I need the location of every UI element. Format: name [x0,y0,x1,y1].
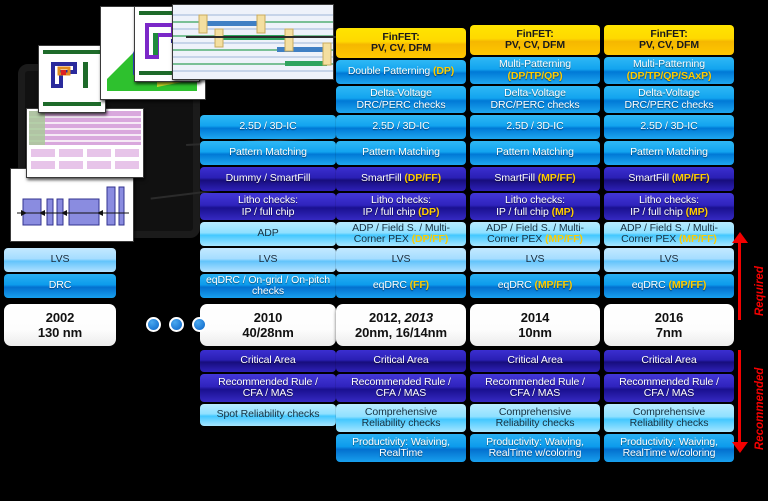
capability-bar[interactable]: Pattern Matching [604,141,734,165]
capability-bar[interactable]: Productivity: Waiving,RealTime [336,434,466,462]
capability-bar[interactable]: SmartFill (DP/FF) [336,167,466,191]
capability-bar[interactable]: eqDRC (MP/FF) [470,274,600,298]
capability-bar[interactable]: SmartFill (MP/FF) [604,167,734,191]
capability-bar[interactable]: Litho checks:IP / full chip (MP) [604,193,734,220]
highlight-token: (MP) [552,206,574,218]
capability-bar[interactable]: LVS [200,248,336,272]
highlight-token: (DP/FF) [404,172,441,184]
capability-bar[interactable]: Multi-Patterning(DP/TP/QP) [470,57,600,84]
column-header-n2014: FinFET:PV, CV, DFM [470,25,600,55]
separator-dot [169,317,184,332]
capability-bar[interactable]: Pattern Matching [336,141,466,165]
capability-bar[interactable]: Critical Area [470,350,600,372]
capability-bar[interactable]: SmartFill (MP/FF) [470,167,600,191]
capability-bar[interactable]: 2.5D / 3D-IC [470,115,600,139]
capability-bar[interactable]: Productivity: Waiving,RealTime w/colorin… [604,434,734,462]
capability-bar[interactable]: ADP / Field S. / Multi-Corner PEX (MP/FF… [470,222,600,246]
capability-bar[interactable]: ADP / Field S. / Multi-Corner PEX (DP/FF… [336,222,466,246]
recommended-arrow: Recommended [724,350,768,454]
highlight-token: (MP/FF) [672,172,710,184]
screenshot-timing-waveform [172,4,334,80]
capability-bar[interactable]: Critical Area [604,350,734,372]
capability-bar[interactable]: Delta-VoltageDRC/PERC checks [604,86,734,113]
highlight-token: (DP/FF) [412,233,449,245]
required-arrow-label: Required [754,266,766,316]
capability-bar[interactable]: Multi-Patterning(DP/TP/QP/SAxP) [604,57,734,84]
year-node-box-n2012[interactable]: 2012, 201320nm, 16/14nm [336,304,466,346]
capability-bar[interactable]: Recommended Rule /CFA / MAS [200,374,336,402]
highlight-token: (MP/FF) [679,233,717,245]
capability-bar[interactable]: eqDRC / On-grid / On-pitch checks [200,274,336,298]
column-header-n2016: FinFET:PV, CV, DFM [604,25,734,55]
separator-dot [146,317,161,332]
highlight-token: (MP/FF) [534,279,572,291]
capability-bar[interactable]: Delta-VoltageDRC/PERC checks [336,86,466,113]
capability-bar[interactable]: Recommended Rule /CFA / MAS [470,374,600,402]
capability-bar[interactable]: eqDRC (FF) [336,274,466,298]
capability-bar[interactable]: Double Patterning (DP) [336,60,466,84]
column-header-n2012: FinFET:PV, CV, DFM [336,28,466,58]
highlight-token: (MP/FF) [668,279,706,291]
capability-bar[interactable]: LVS [4,248,116,272]
capability-bar[interactable]: ComprehensiveReliability checks [604,404,734,432]
highlight-token: (MP) [686,206,708,218]
year-node-box-n2014[interactable]: 201410nm [470,304,600,346]
capability-bar[interactable]: Delta-VoltageDRC/PERC checks [470,86,600,113]
capability-bar[interactable]: Pattern Matching [470,141,600,165]
capability-bar[interactable]: LVS [470,248,600,272]
screenshot-layout-view [38,45,106,113]
required-arrow: Required [724,232,768,320]
capability-bar[interactable]: LVS [336,248,466,272]
capability-bar[interactable]: LVS [604,248,734,272]
capability-bar[interactable]: Critical Area [200,350,336,372]
capability-bar[interactable]: Spot Reliability checks [200,404,336,426]
capability-bar[interactable]: ADP / Field S. / Multi-Corner PEX (MP/FF… [604,222,734,246]
capability-bar[interactable]: Dummy / SmartFill [200,167,336,191]
capability-bar[interactable]: ComprehensiveReliability checks [336,404,466,432]
screenshot-cross-section [10,168,134,242]
highlight-token: (FF) [410,279,429,291]
capability-bar[interactable]: Productivity: Waiving,RealTime w/colorin… [470,434,600,462]
highlight-token: (DP/TP/QP) [507,70,562,82]
capability-bar[interactable]: Recommended Rule /CFA / MAS [336,374,466,402]
highlight-token: (DP/TP/QP/SAxP) [627,70,712,82]
capability-bar[interactable]: eqDRC (MP/FF) [604,274,734,298]
roadmap-diagram: LVSDRC2002130 nm2.5D / 3D-ICPattern Matc… [0,0,768,501]
capability-bar[interactable]: DRC [4,274,116,298]
year-node-box-n2010[interactable]: 201040/28nm [200,304,336,346]
capability-bar[interactable]: Critical Area [336,350,466,372]
capability-bar[interactable]: Pattern Matching [200,141,336,165]
capability-bar[interactable]: Litho checks:IP / full chip [200,193,336,220]
year-node-box-n2002[interactable]: 2002130 nm [4,304,116,346]
recommended-arrow-label: Recommended [754,368,766,450]
capability-bar[interactable]: ADP [200,222,336,246]
capability-bar[interactable]: 2.5D / 3D-IC [200,115,336,139]
capability-bar[interactable]: ComprehensiveReliability checks [470,404,600,432]
highlight-token: (DP) [433,65,454,77]
highlight-token: (MP/FF) [538,172,576,184]
separator-dot [192,317,207,332]
screenshot-density-map [26,108,144,178]
capability-bar[interactable]: Recommended Rule /CFA / MAS [604,374,734,402]
capability-bar[interactable]: Litho checks:IP / full chip (MP) [470,193,600,220]
connector-line-top [186,36,338,38]
capability-bar[interactable]: Litho checks:IP / full chip (DP) [336,193,466,220]
highlight-token: (MP/FF) [545,233,583,245]
capability-bar[interactable]: 2.5D / 3D-IC [336,115,466,139]
capability-bar[interactable]: 2.5D / 3D-IC [604,115,734,139]
year-node-box-n2016[interactable]: 20167nm [604,304,734,346]
highlight-token: (DP) [418,206,439,218]
